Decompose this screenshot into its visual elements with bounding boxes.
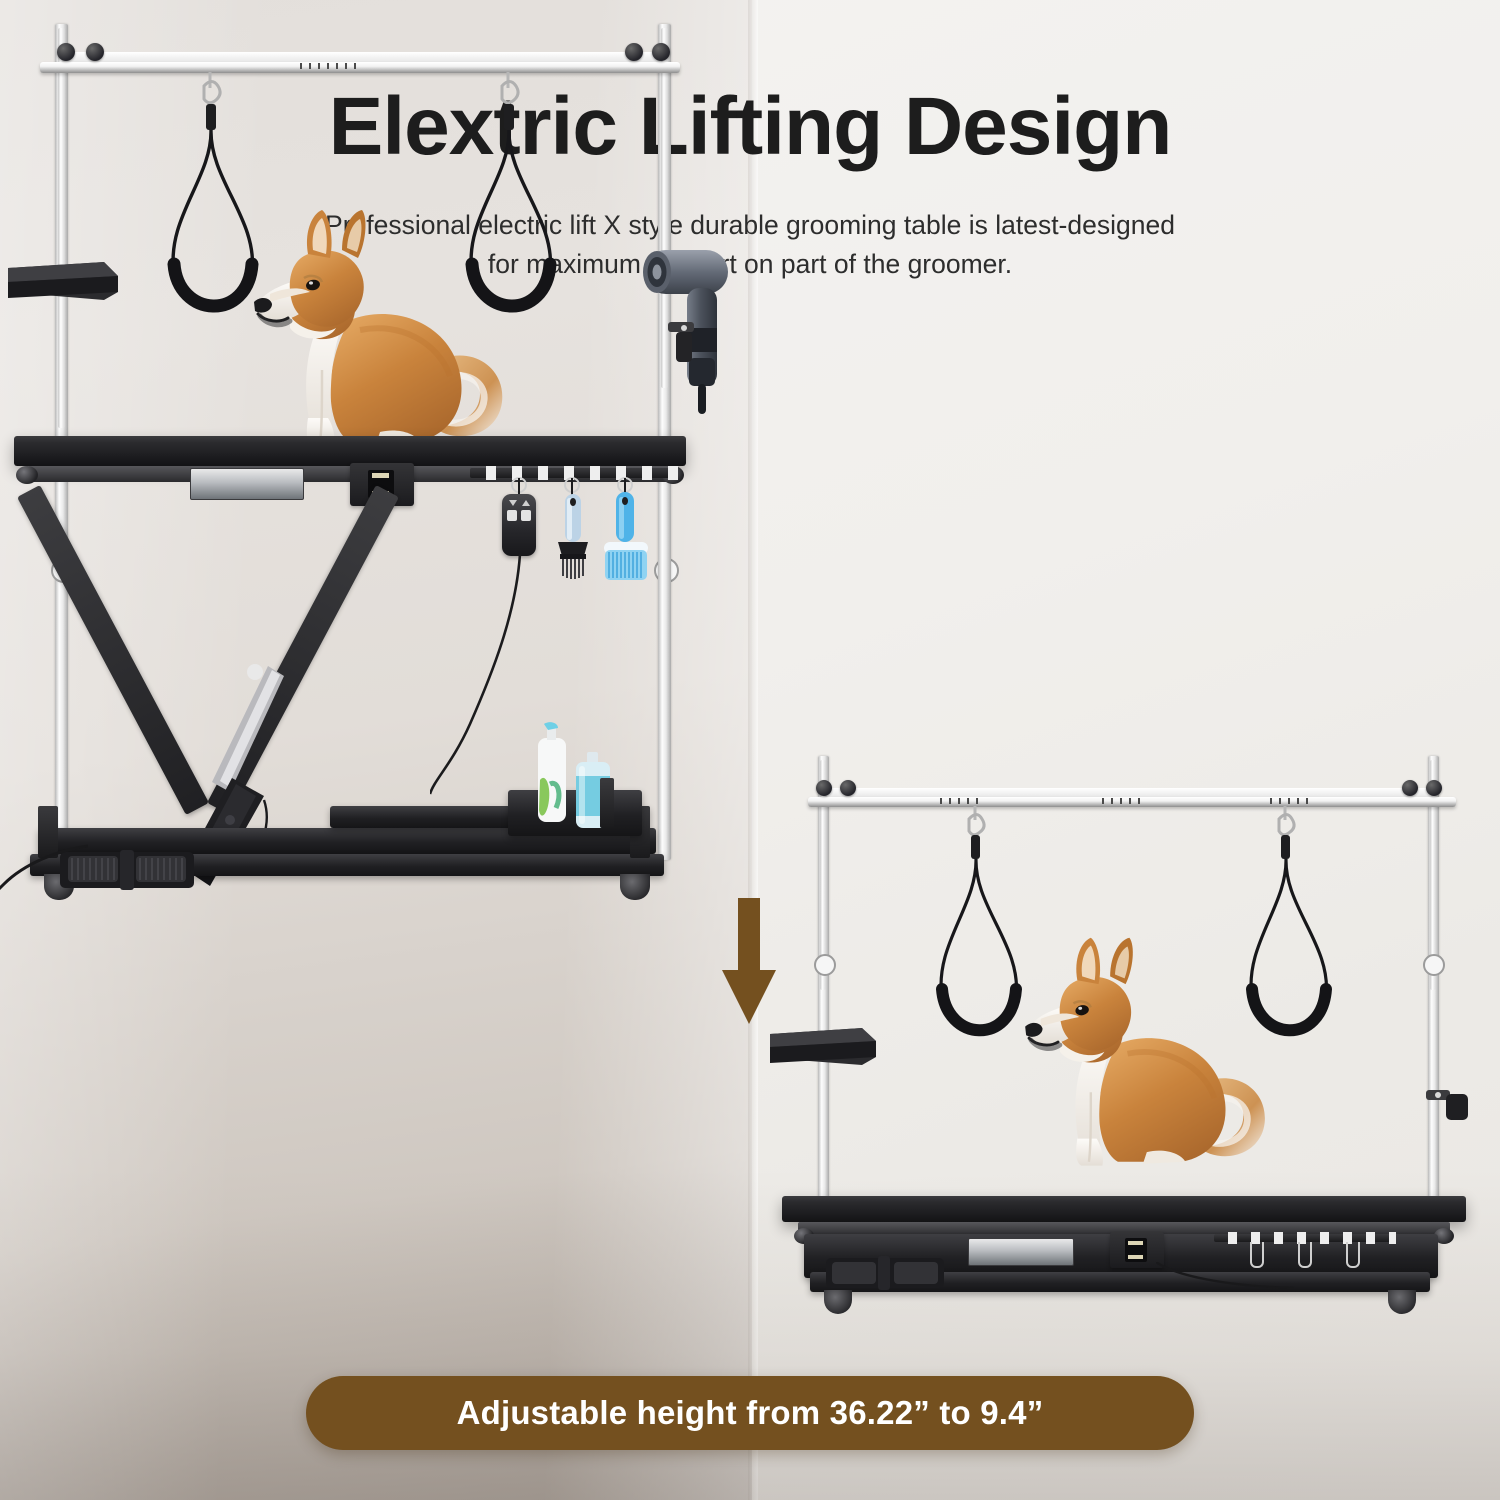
post-left-inner-tube xyxy=(58,28,65,428)
overhead-arm-highlight-lowered xyxy=(826,788,1434,797)
shiba-inu-dog-raised xyxy=(230,170,520,470)
lowering-arrow-icon xyxy=(719,898,779,1024)
tabletop-raised xyxy=(14,436,686,466)
arm-clamp-knob-3[interactable] xyxy=(625,43,643,61)
side-shelf xyxy=(8,262,118,320)
slicker-brush[interactable] xyxy=(598,490,654,596)
remote-down-icon xyxy=(509,500,517,506)
overhead-arm-scale-marks-lowered-2 xyxy=(1102,798,1144,804)
post-right-adjust-ring-lowered xyxy=(1423,954,1445,976)
tabletop-lowered xyxy=(782,1196,1466,1222)
base-foot-left-lowered xyxy=(824,1290,852,1314)
arm-clamp-knob-2[interactable] xyxy=(86,43,104,61)
arm-clamp-knob-1[interactable] xyxy=(57,43,75,61)
arm-clamp-knob-4[interactable] xyxy=(652,43,670,61)
base-foot-right-lowered xyxy=(1388,1290,1416,1314)
product-lowered-position xyxy=(780,742,1480,1312)
usb-port-upper[interactable] xyxy=(372,473,389,478)
height-range-text: Adjustable height from 36.22” to 9.4” xyxy=(457,1394,1044,1432)
overhead-grooming-arm xyxy=(40,62,680,73)
storage-tray-divider xyxy=(600,778,614,828)
product-raised-position xyxy=(0,0,752,940)
arm-clamp-knob-2-lowered[interactable] xyxy=(840,780,856,796)
shampoo-bottle-white xyxy=(528,722,576,826)
tabletop-side-knob-left[interactable] xyxy=(16,466,38,484)
rail-hook-3-lowered[interactable] xyxy=(1346,1242,1360,1268)
post-left-adjust-ring-lowered xyxy=(814,954,836,976)
hair-dryer xyxy=(632,236,740,422)
infographic-canvas: Elextric Lifting Design Professional ele… xyxy=(0,0,1500,1500)
shiba-inu-dog-lowered xyxy=(1002,894,1282,1194)
post-right-lower-section xyxy=(658,470,671,860)
hair-dryer-holder-lowered[interactable] xyxy=(1426,1084,1480,1130)
remote-up-icon xyxy=(522,500,530,506)
storage-drawer[interactable] xyxy=(190,468,304,500)
height-range-banner: Adjustable height from 36.22” to 9.4” xyxy=(306,1376,1194,1450)
remote-button-left[interactable] xyxy=(507,510,517,521)
usb-port-upper-lowered[interactable] xyxy=(1128,1241,1143,1245)
undercoat-rake[interactable] xyxy=(548,492,598,592)
arm-clamp-knob-4-lowered[interactable] xyxy=(1426,780,1442,796)
hand-remote[interactable] xyxy=(502,494,536,556)
side-shelf-lowered xyxy=(770,1028,876,1084)
remote-button-right[interactable] xyxy=(521,510,531,521)
overhead-arm-highlight xyxy=(62,52,662,62)
arm-clamp-knob-1-lowered[interactable] xyxy=(816,780,832,796)
overhead-arm-scale-marks xyxy=(300,63,360,69)
storage-drawer-lowered[interactable] xyxy=(968,1238,1074,1266)
arm-clamp-knob-3-lowered[interactable] xyxy=(1402,780,1418,796)
base-foot-right xyxy=(620,874,650,900)
usb-port-lower-lowered[interactable] xyxy=(1128,1255,1143,1259)
power-cord xyxy=(0,840,98,920)
power-cord-lowered xyxy=(1156,1262,1296,1298)
rail-hook-2-lowered[interactable] xyxy=(1298,1242,1312,1268)
